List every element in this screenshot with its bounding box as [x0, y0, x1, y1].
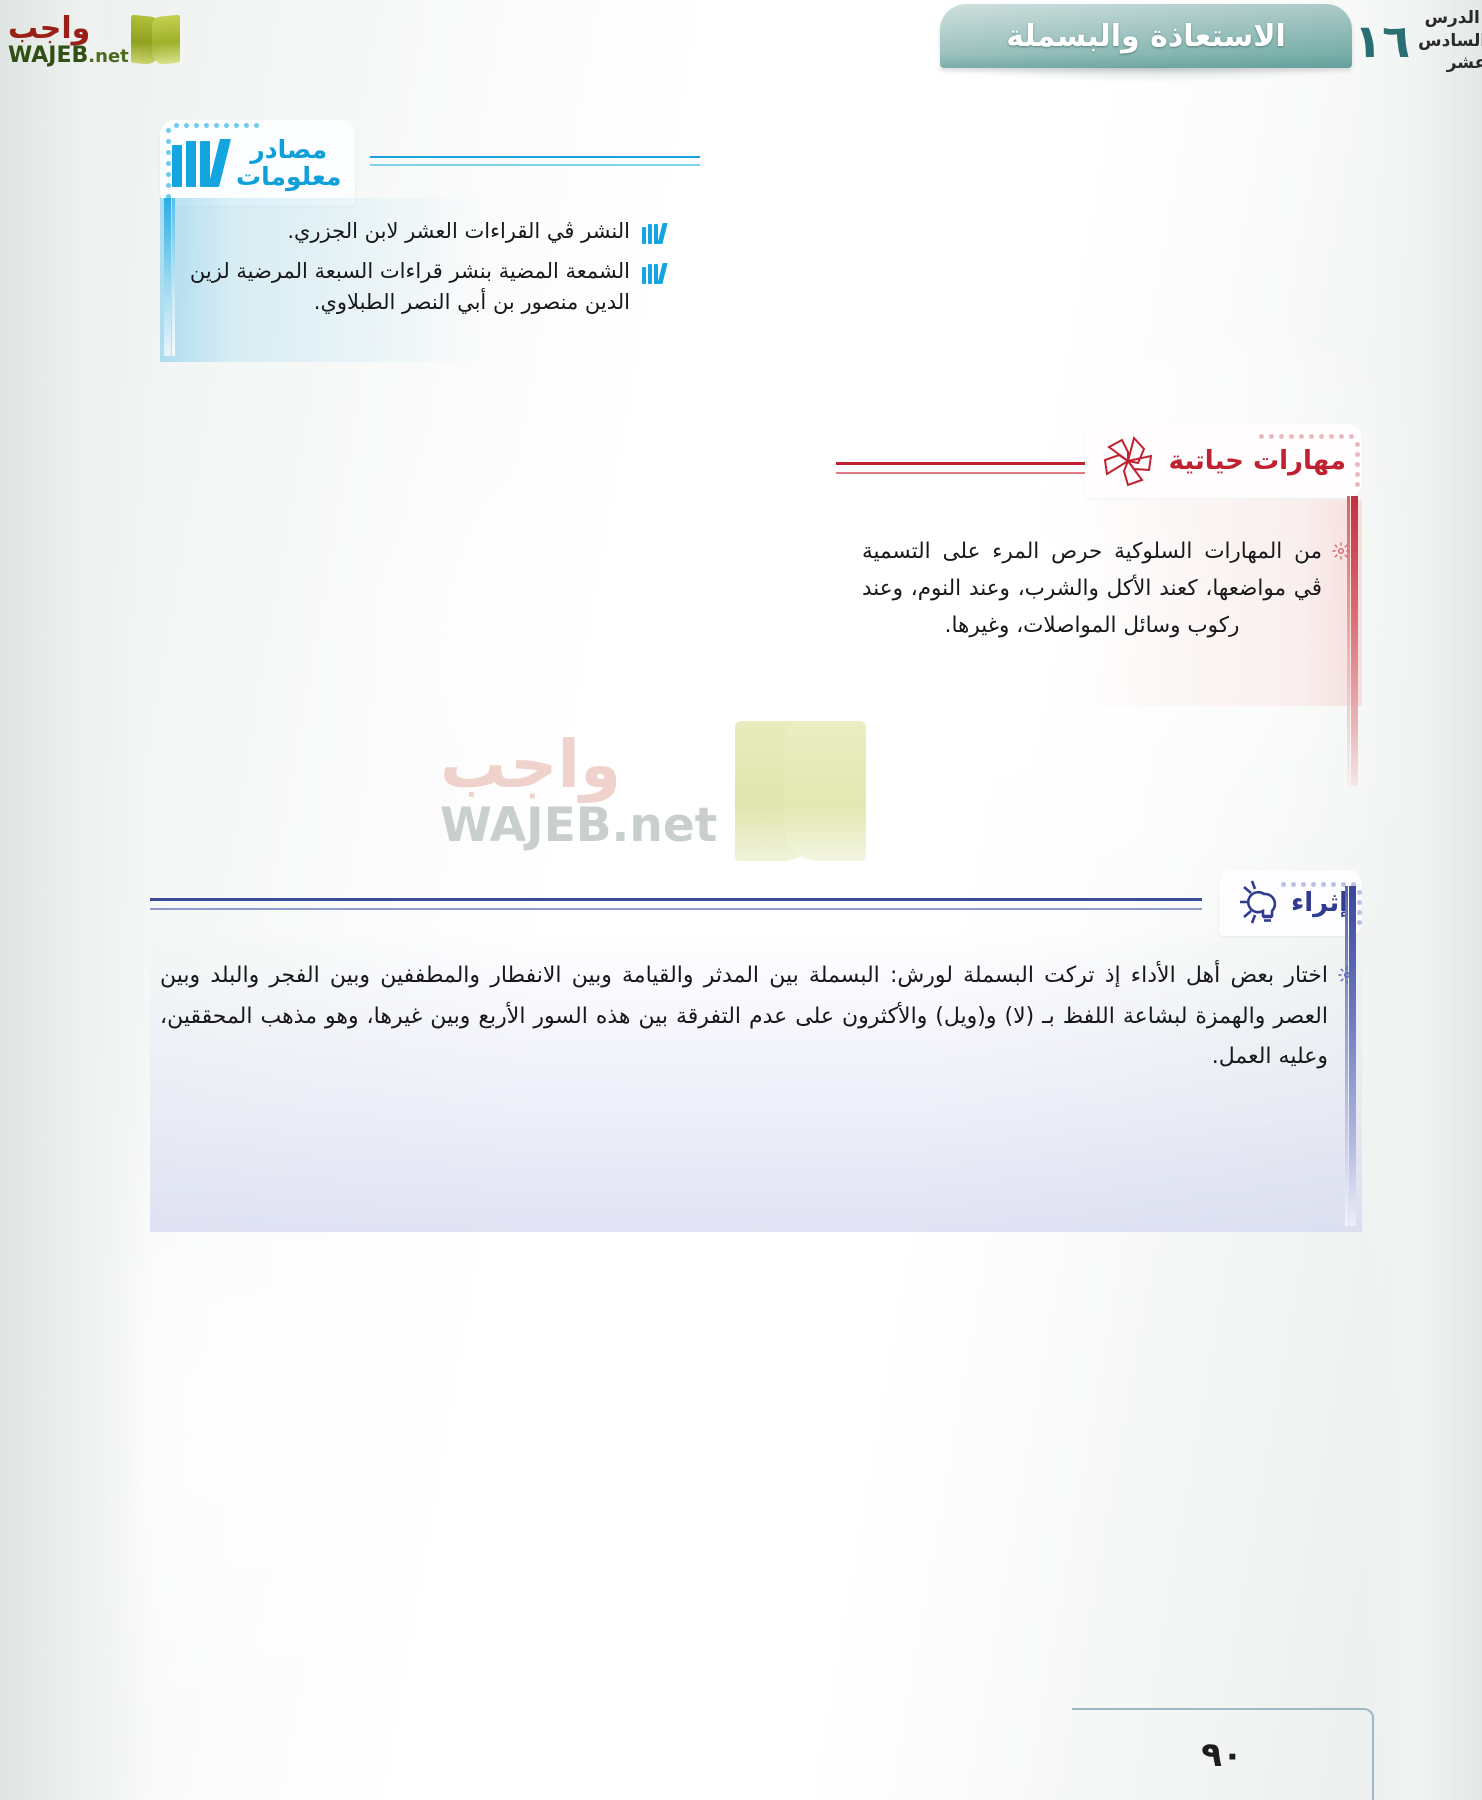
- enrichment-body: اختار بعض أهل الأداء إذ تركت البسملة لور…: [150, 940, 1362, 1108]
- sparkle-icon: [1332, 542, 1350, 645]
- books-icon: [172, 139, 228, 187]
- life-skills-dots-vertical: [1355, 442, 1360, 487]
- lesson-title-banner: الاستعاذة والبسملة: [940, 4, 1352, 68]
- sparkle-icon: [1338, 966, 1356, 1078]
- info-sources-tab[interactable]: مصادر معلومات: [160, 120, 355, 206]
- info-sources-body: النشر ڤي القراءات العشر لابن الجزري. الش…: [160, 198, 680, 362]
- list-item: النشر ڤي القراءات العشر لابن الجزري.: [170, 216, 666, 246]
- info-sources-dots-horizontal: [174, 123, 259, 128]
- lesson-label: الدرس السادس عشر: [1418, 7, 1482, 76]
- list-item: الشمعة المضية بنشر قراءات السبعة المرضية…: [170, 256, 666, 317]
- life-skills-label: مهارات حياتية: [1169, 447, 1346, 475]
- info-sources-rule: [370, 156, 700, 166]
- page-title: الاستعاذة والبسملة: [1006, 19, 1286, 54]
- lesson-number: ١٦: [1354, 18, 1410, 64]
- life-skills-rule: [836, 462, 1126, 474]
- flower-icon: [1097, 430, 1159, 492]
- enrichment-tab[interactable]: إثراء: [1219, 870, 1362, 936]
- enrichment-text: اختار بعض أهل الأداء إذ تركت البسملة لور…: [160, 956, 1328, 1078]
- page-number-box: ٩٠: [1072, 1708, 1374, 1800]
- life-skills-header: مهارات حياتية: [842, 418, 1362, 500]
- lesson-word: الدرس: [1425, 7, 1480, 30]
- life-skills-tab[interactable]: مهارات حياتية: [1085, 424, 1362, 498]
- enrichment-label: إثراء: [1291, 889, 1348, 917]
- page-right-edge-shade: [1362, 0, 1482, 1800]
- info-sources-item-text: النشر ڤي القراءات العشر لابن الجزري.: [287, 216, 630, 246]
- page-left-edge-shade: [0, 0, 150, 1800]
- info-sources-header: مصادر معلومات: [160, 120, 680, 196]
- life-skills-row: من المهارات السلوكية حرص المرء على التسم…: [862, 534, 1350, 645]
- enrichment-dots-vertical: [1357, 890, 1362, 925]
- lightbulb-icon: [1231, 877, 1283, 929]
- info-sources-label: مصادر معلومات: [236, 136, 341, 190]
- life-skills-body: من المهارات السلوكية حرص المرء على التسم…: [842, 500, 1362, 706]
- info-sources-box: مصادر معلومات النشر ڤي القراءات العشر لا…: [160, 120, 680, 362]
- life-skills-dots-horizontal: [1259, 434, 1354, 439]
- enrichment-box: إثراء اختار بعض أهل الأداء إذ تركت البسم…: [150, 862, 1362, 1108]
- enrichment-rule: [150, 898, 1202, 910]
- books-bullet-icon: [642, 222, 666, 244]
- page-header: الاستعاذة والبسملة الدرس السادس عشر ١٦: [0, 0, 1482, 96]
- life-skills-box: مهارات حياتية من المها: [842, 418, 1362, 706]
- info-sources-item-text: الشمعة المضية بنشر قراءات السبعة المرضية…: [170, 256, 630, 317]
- lesson-ordinal: السادس عشر: [1418, 30, 1482, 76]
- enrichment-header: إثراء: [150, 862, 1362, 940]
- info-sources-list: النشر ڤي القراءات العشر لابن الجزري. الش…: [170, 216, 666, 317]
- books-bullet-icon: [642, 262, 666, 284]
- page-number: ٩٠: [1201, 1735, 1243, 1775]
- lesson-marker: الدرس السادس عشر ١٦: [1354, 4, 1474, 78]
- info-sources-dots-vertical: [166, 128, 171, 199]
- life-skills-accent-bar: [1351, 496, 1358, 786]
- title-banner-shadow: [942, 66, 1342, 82]
- enrichment-row: اختار بعض أهل الأداء إذ تركت البسملة لور…: [160, 956, 1356, 1078]
- life-skills-text: من المهارات السلوكية حرص المرء على التسم…: [862, 534, 1322, 645]
